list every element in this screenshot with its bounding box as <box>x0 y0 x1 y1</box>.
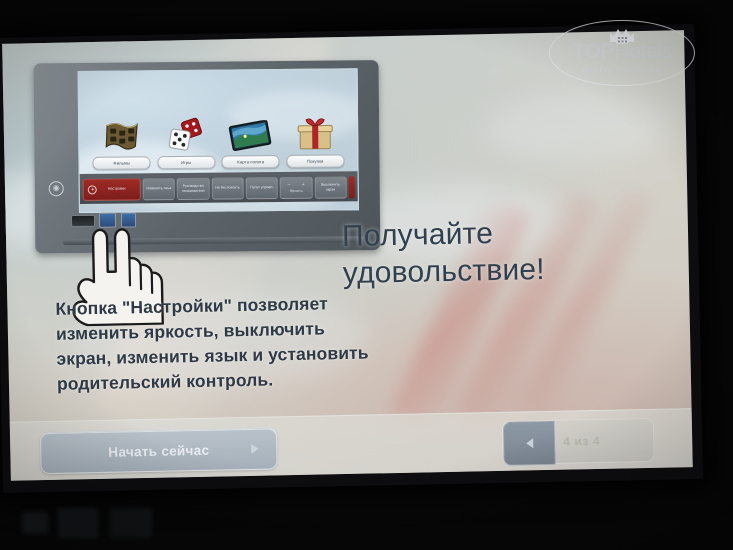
settings-toolbar: Настройки Изменить язык Руководство поль… <box>80 171 358 204</box>
slide-headline: Получайте удовольствие! <box>342 213 653 292</box>
aux-port-icon <box>121 212 136 227</box>
previous-slide-button[interactable] <box>503 421 556 466</box>
display-surface: Фильмы <box>2 30 693 481</box>
watermark-tagline: ФОТО ТУРИСТА <box>549 65 695 75</box>
left-arrow-icon <box>526 438 533 448</box>
page-counter: 4 из 4 <box>563 420 601 463</box>
start-now-button[interactable]: Начать сейчас <box>40 427 278 474</box>
ife-display: Фильмы <box>0 24 703 493</box>
headline-line-2: удовольствие! <box>342 249 653 292</box>
brightness-stepper[interactable]: – + Яркость <box>280 176 313 198</box>
reflection <box>110 508 152 538</box>
menu-item-flight-map[interactable]: Карта полета <box>220 106 281 169</box>
photograph-of-ife-screen: Фильмы <box>0 0 733 550</box>
play-arrow-icon <box>251 444 258 454</box>
gift-icon <box>295 106 335 152</box>
watermark-brand-light: Hotels <box>614 40 671 63</box>
main-menu-icon-row: Фильмы <box>79 81 358 170</box>
watermark-brand-bold: TOP <box>573 40 615 63</box>
reflection <box>58 508 98 538</box>
toolbar-button-language[interactable]: Изменить язык <box>143 178 176 200</box>
toolbar-button-screen-off[interactable]: Выключить экран <box>314 176 347 198</box>
headphone-jack-icon: ◉ <box>49 181 64 196</box>
menu-item-shopping[interactable]: Покупки <box>285 105 346 168</box>
flight-map-icon <box>228 106 272 152</box>
menu-item-movies[interactable]: Фильмы <box>91 107 152 170</box>
cloud-shape <box>483 90 674 164</box>
toolbar-button-remote[interactable]: Пульт управл. <box>246 177 279 199</box>
watermark-brand: TOPHotels <box>549 41 695 62</box>
menu-label-games: Игры <box>157 156 215 170</box>
watermark: TOPHotels ФОТО ТУРИСТА <box>549 20 695 86</box>
headline-line-1: Получайте <box>342 213 653 256</box>
start-now-label: Начать сейчас <box>108 442 209 459</box>
settings-button-label: Настройки <box>108 187 126 192</box>
film-strip-icon <box>101 107 141 153</box>
toolbar-button-user-guide[interactable]: Руководство пользователя <box>177 177 210 199</box>
aux-port-icon <box>99 213 116 228</box>
pagination-control: 4 из 4 <box>502 418 655 465</box>
menu-label-flight-map: Карта полета <box>222 155 280 169</box>
toolbar-end-cap[interactable] <box>349 176 355 198</box>
menu-item-games[interactable]: Игры <box>156 107 217 170</box>
device-screen-preview: Фильмы <box>78 68 359 213</box>
dice-icon <box>165 107 207 153</box>
reflection <box>22 512 48 534</box>
gear-icon <box>88 185 97 194</box>
usb-port-icon <box>71 215 95 227</box>
device-illustration: Фильмы <box>34 60 381 253</box>
menu-label-shopping: Покупки <box>286 154 344 168</box>
slide-caption: Кнопка "Настройки" позволяет изменить яр… <box>55 290 409 396</box>
menu-label-movies: Фильмы <box>93 156 151 170</box>
brightness-label: Яркость <box>290 188 303 192</box>
settings-button[interactable]: Настройки <box>83 178 141 201</box>
toolbar-button-do-not-disturb[interactable]: Не беспокоить <box>211 177 244 199</box>
